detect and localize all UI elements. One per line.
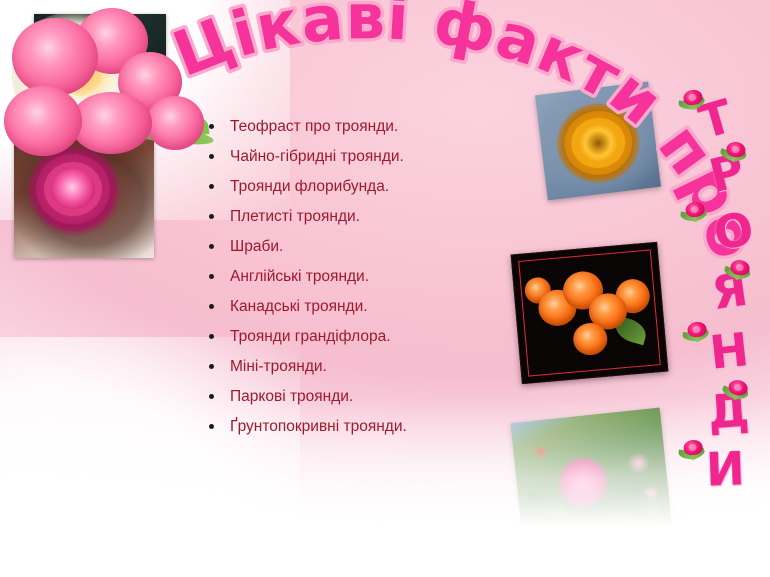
yellow-rose-bloom — [576, 123, 620, 164]
bouquet-bloom — [4, 86, 82, 156]
garden-leaf — [625, 488, 663, 517]
list-item[interactable]: Чайно-гібридні троянди. — [207, 147, 507, 166]
list-item[interactable]: Канадські троянди. — [207, 297, 507, 316]
garden-leaf — [581, 503, 631, 536]
bouquet-bloom — [12, 18, 98, 96]
yellow-rose-photo — [535, 81, 661, 200]
vertical-letter-3: О — [710, 205, 757, 257]
pink-garden-photo — [510, 408, 673, 556]
pink-rose-bloom — [51, 169, 95, 209]
list-item[interactable]: Теофраст про троянди. — [207, 117, 507, 136]
rose-decoration-icon — [677, 438, 709, 463]
list-item[interactable]: Англійські троянди. — [207, 267, 507, 286]
facts-bullet-list: Теофраст про троянди. Чайно-гібридні тро… — [207, 117, 507, 447]
list-item[interactable]: Міні-троянди. — [207, 357, 507, 376]
list-item[interactable]: Ґрунтопокривні троянди. — [207, 417, 507, 436]
rose-decoration-icon — [679, 200, 711, 225]
slide-canvas: Цікаві факти про Цікаві факти про Т Р О … — [0, 0, 770, 577]
vertical-letter-7: И — [705, 445, 745, 492]
orange-roses-photo — [511, 242, 669, 384]
list-item[interactable]: Троянди грандіфлора. — [207, 327, 507, 346]
rose-decoration-icon — [719, 140, 752, 166]
vertical-title-troyandy: Т Р О Я Н Д И — [672, 96, 768, 516]
rose-decoration-icon — [681, 320, 714, 346]
bouquet-bloom — [70, 92, 152, 154]
list-item[interactable]: Троянди флорибунда. — [207, 177, 507, 196]
garden-leaf — [526, 492, 569, 520]
vertical-letter-5: Н — [708, 326, 751, 376]
bouquet-bloom — [146, 96, 204, 150]
list-item[interactable]: Паркові троянди. — [207, 387, 507, 406]
list-item[interactable]: Плетисті троянди. — [207, 207, 507, 226]
list-item[interactable]: Шраби. — [207, 237, 507, 256]
